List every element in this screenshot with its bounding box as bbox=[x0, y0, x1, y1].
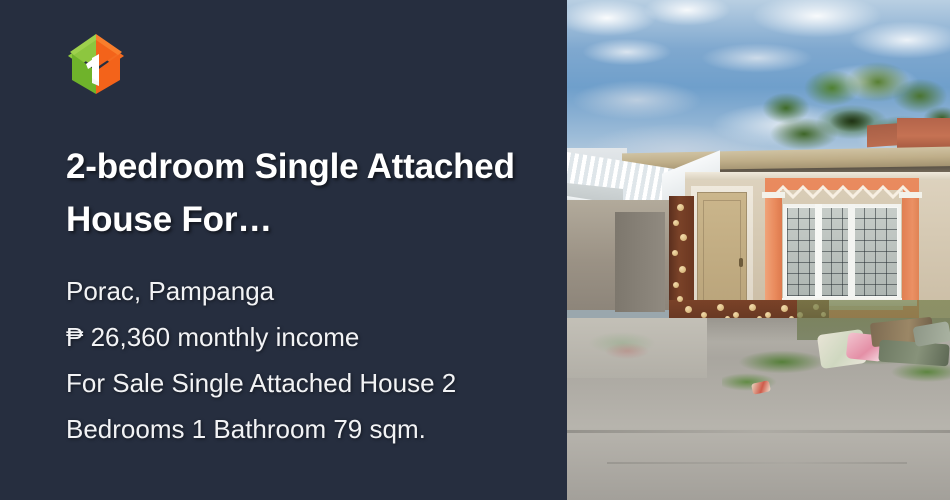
pavement-crack bbox=[567, 430, 950, 433]
listing-location: Porac, Pampanga bbox=[66, 268, 527, 314]
window-grille bbox=[787, 208, 897, 296]
pavement-crack bbox=[607, 462, 907, 464]
listing-info-panel: 2-bedroom Single Attached House For… Por… bbox=[0, 0, 567, 500]
neighbour-roof-tiles bbox=[897, 118, 950, 148]
listing-price: ₱ 26,360 monthly income bbox=[66, 314, 527, 360]
carport-interior-shadow bbox=[615, 212, 665, 312]
pilaster-left bbox=[765, 196, 782, 300]
property-photo bbox=[567, 0, 950, 500]
pilaster-cap-left bbox=[762, 192, 785, 198]
door-handle bbox=[739, 258, 743, 267]
house-one-logo-icon bbox=[66, 34, 126, 96]
zigzag-decoration bbox=[771, 184, 913, 200]
window-mullion bbox=[848, 204, 855, 300]
debris-pile bbox=[819, 318, 950, 380]
pad-red-stain bbox=[597, 340, 657, 362]
listing-meta: Porac, Pampanga ₱ 26,360 monthly income … bbox=[66, 268, 527, 452]
debris-item bbox=[878, 340, 949, 367]
listing-description-line-2: Bedrooms 1 Bathroom 79 sqm. bbox=[66, 406, 527, 452]
page-title: 2-bedroom Single Attached House For… bbox=[66, 140, 526, 246]
listing-description-line-1: For Sale Single Attached House 2 bbox=[66, 360, 527, 406]
window-mullion bbox=[815, 204, 822, 300]
pilaster-cap-right bbox=[899, 192, 922, 198]
door-panel bbox=[703, 200, 741, 314]
listing-card: 2-bedroom Single Attached House For… Por… bbox=[0, 0, 950, 500]
pilaster-right bbox=[902, 196, 919, 300]
